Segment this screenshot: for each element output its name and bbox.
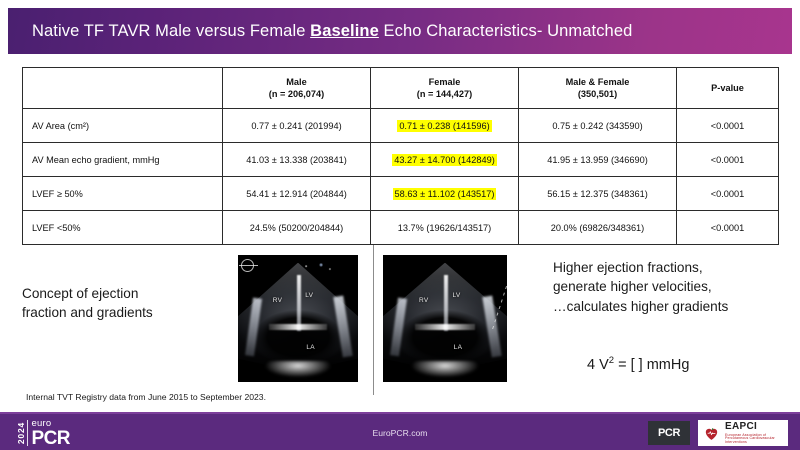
eapci-logo: EAPCI European Association of Percutaneo… <box>698 420 788 446</box>
echo-orientation-marker-icon <box>241 259 254 272</box>
column-header-both-title: Male & Female <box>525 76 670 88</box>
column-header-male: Male (n = 206,074) <box>223 68 371 109</box>
column-header-male-count: (n = 206,074) <box>229 88 364 100</box>
footer-website-text: EuroPCR.com <box>373 428 428 438</box>
cell-av-gradient-male: 41.03 ± 13.338 (203841) <box>223 143 371 177</box>
echo-apical-four-chamber-right: RV LV LA <box>383 255 507 382</box>
lower-content-area: Concept of ejection fraction and gradien… <box>0 243 800 413</box>
echo-apex-reflection <box>398 361 492 377</box>
row-label-lvef-lt-50: LVEF <50% <box>23 211 223 245</box>
column-header-both-count: (350,501) <box>525 88 670 100</box>
concept-line-1: Concept of ejection <box>22 285 227 304</box>
highlighted-value: 0.71 ± 0.238 (141596) <box>397 120 491 132</box>
table-row: LVEF <50% 24.5% (50200/204844) 13.7% (19… <box>23 211 779 245</box>
bernoulli-formula: 4 V2 = [ ] mmHg <box>587 355 689 373</box>
cell-lvef-lt50-both: 20.0% (69826/348361) <box>519 211 677 245</box>
cell-lvef-ge50-male: 54.41 ± 12.914 (204844) <box>223 177 371 211</box>
pcr-logo-text: PCR <box>658 427 680 439</box>
highlighted-value: 43.27 ± 14.700 (142849) <box>392 154 497 166</box>
table-body: AV Area (cm²) 0.77 ± 0.241 (201994) 0.71… <box>23 109 779 245</box>
row-label-av-mean-gradient: AV Mean echo gradient, mmHg <box>23 143 223 177</box>
echo-characteristics-table-wrapper: Male (n = 206,074) Female (n = 144,427) … <box>22 67 778 245</box>
pcr-logo: PCR <box>648 421 690 445</box>
echo-apical-four-chamber-left: RV LV LA <box>238 255 358 382</box>
echo-characteristics-table: Male (n = 206,074) Female (n = 144,427) … <box>22 67 779 245</box>
echo-mitral-valve-plane <box>269 324 327 330</box>
cell-lvef-ge50-female: 58.63 ± 11.102 (143517) <box>371 177 519 211</box>
cell-av-area-female: 0.71 ± 0.238 (141596) <box>371 109 519 143</box>
explanation-caption: Higher ejection fractions, generate high… <box>553 258 798 316</box>
highlighted-value: 58.63 ± 11.102 (143517) <box>393 188 497 200</box>
cell-av-area-male: 0.77 ± 0.241 (201994) <box>223 109 371 143</box>
column-header-metric <box>23 68 223 109</box>
row-label-lvef-ge-50: LVEF ≥ 50% <box>23 177 223 211</box>
echo-probe-markers <box>300 261 334 274</box>
column-header-male-and-female: Male & Female (350,501) <box>519 68 677 109</box>
column-header-female-count: (n = 144,427) <box>377 88 512 100</box>
echo-label-lv: LV <box>305 292 313 299</box>
table-row: AV Mean echo gradient, mmHg 41.03 ± 13.3… <box>23 143 779 177</box>
concept-caption: Concept of ejection fraction and gradien… <box>22 285 227 323</box>
slide-title-bar: Native TF TAVR Male versus Female Baseli… <box>8 8 792 54</box>
explanation-line-1: Higher ejection fractions, <box>553 258 798 277</box>
column-header-female-title: Female <box>377 76 512 88</box>
echo-label-la: LA <box>306 344 315 351</box>
eapci-name: EAPCI <box>725 422 788 432</box>
section-divider <box>373 245 374 395</box>
column-header-pvalue: P-value <box>677 68 779 109</box>
data-source-footnote: Internal TVT Registry data from June 201… <box>26 392 266 402</box>
title-part-before: Native TF TAVR Male versus Female <box>32 22 310 40</box>
column-header-male-title: Male <box>229 76 364 88</box>
cell-av-gradient-both: 41.95 ± 13.959 (346690) <box>519 143 677 177</box>
cell-lvef-lt50-male: 24.5% (50200/204844) <box>223 211 371 245</box>
formula-prefix: 4 V <box>587 357 609 373</box>
cell-lvef-lt50-female: 13.7% (19626/143517) <box>371 211 519 245</box>
echo-label-la: LA <box>454 344 463 351</box>
echo-label-rv: RV <box>273 297 283 304</box>
table-row: LVEF ≥ 50% 54.41 ± 12.914 (204844) 58.63… <box>23 177 779 211</box>
eapci-subtitle: European Association of Percutaneous Car… <box>725 434 788 445</box>
cell-lvef-ge50-pvalue: <0.0001 <box>677 177 779 211</box>
echo-label-lv: LV <box>452 292 460 299</box>
cell-av-gradient-pvalue: <0.0001 <box>677 143 779 177</box>
table-header: Male (n = 206,074) Female (n = 144,427) … <box>23 68 779 109</box>
cell-av-area-both: 0.75 ± 0.242 (343590) <box>519 109 677 143</box>
explanation-line-3: …calculates higher gradients <box>553 297 798 316</box>
table-header-row: Male (n = 206,074) Female (n = 144,427) … <box>23 68 779 109</box>
explanation-line-2: generate higher velocities, <box>553 277 798 296</box>
echo-apex-reflection <box>252 361 343 377</box>
page-title: Native TF TAVR Male versus Female Baseli… <box>32 22 632 41</box>
echo-mitral-valve-plane <box>415 324 475 330</box>
column-header-female: Female (n = 144,427) <box>371 68 519 109</box>
row-label-av-area: AV Area (cm²) <box>23 109 223 143</box>
formula-suffix: = [ ] mmHg <box>614 357 689 373</box>
cell-lvef-ge50-both: 56.15 ± 12.375 (348361) <box>519 177 677 211</box>
title-emphasis: Baseline <box>310 22 379 40</box>
table-row: AV Area (cm²) 0.77 ± 0.241 (201994) 0.71… <box>23 109 779 143</box>
slide-footer: 2024 euro PCR EuroPCR.com PCR EAPCI <box>0 412 800 450</box>
eapci-wordmark: EAPCI European Association of Percutaneo… <box>725 422 788 445</box>
heart-icon <box>703 425 720 442</box>
cell-av-area-pvalue: <0.0001 <box>677 109 779 143</box>
cell-lvef-lt50-pvalue: <0.0001 <box>677 211 779 245</box>
title-part-after: Echo Characteristics- Unmatched <box>379 22 633 40</box>
cell-av-gradient-female: 43.27 ± 14.700 (142849) <box>371 143 519 177</box>
concept-line-2: fraction and gradients <box>22 304 227 323</box>
slide: Native TF TAVR Male versus Female Baseli… <box>0 0 800 450</box>
echo-label-rv: RV <box>419 297 429 304</box>
